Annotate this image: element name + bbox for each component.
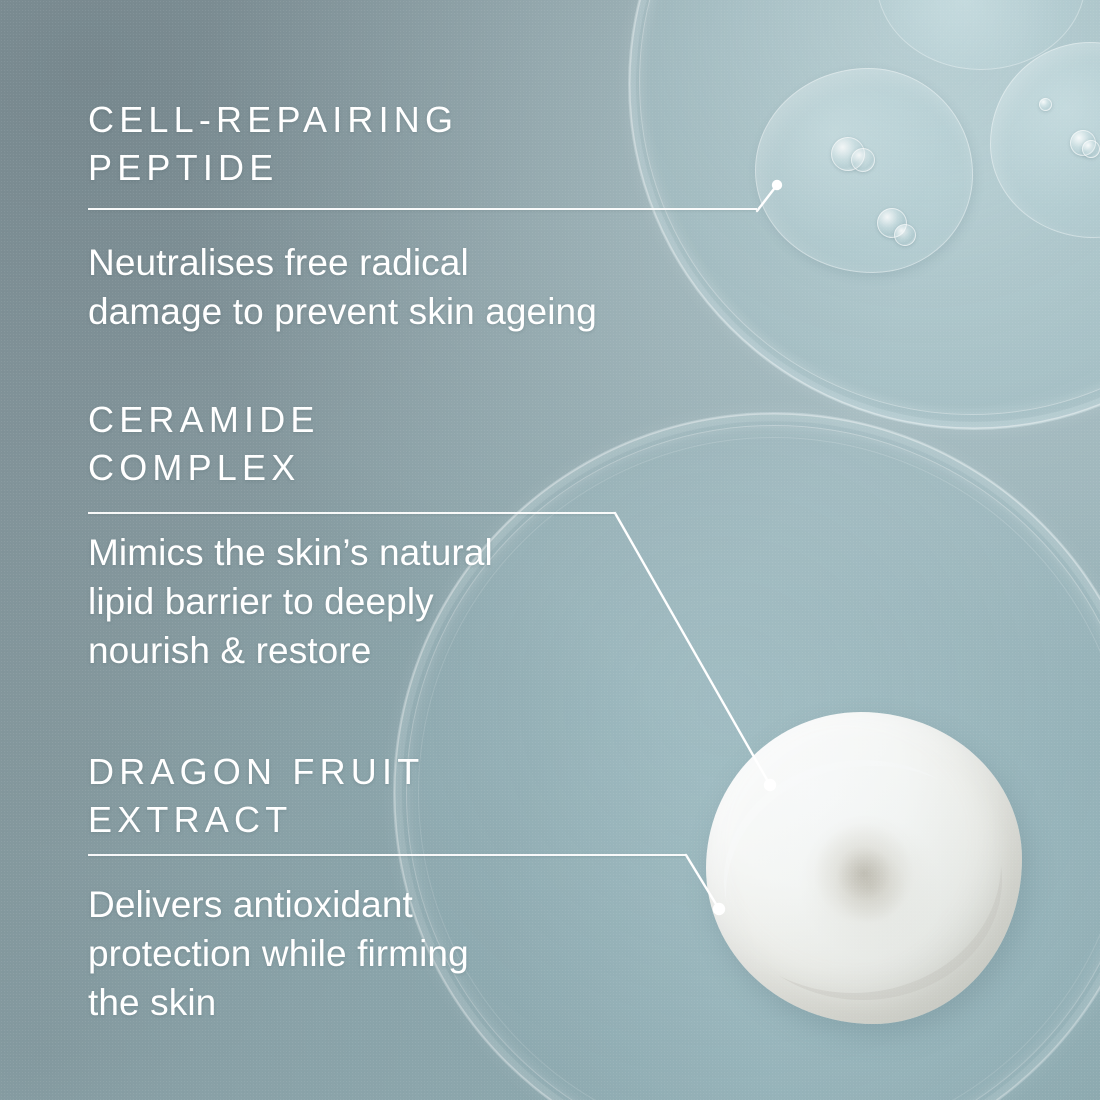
body-text-peptide: Neutralises free radical damage to preve… <box>88 238 597 336</box>
petri-dish-bottom-inner-rim-2 <box>418 437 1100 1100</box>
leader-dot-peptide <box>772 180 782 190</box>
leader-line-peptide-diagonal <box>757 185 777 211</box>
infographic-canvas: CELL-REPAIRING PEPTIDE Neutralises free … <box>0 0 1100 1100</box>
air-bubble-icon <box>1039 98 1052 111</box>
air-bubble-icon <box>877 208 907 238</box>
gel-droplet-upper <box>876 0 1086 70</box>
leader-dot-dragonfruit <box>713 903 725 915</box>
divider-rule-ceramide <box>88 512 615 514</box>
divider-rule-peptide <box>88 208 757 210</box>
leader-dot-ceramide <box>764 779 776 791</box>
gel-droplet-center <box>755 68 973 273</box>
air-bubble-icon <box>831 137 865 171</box>
air-bubble-icon <box>894 224 916 246</box>
ingredient-block-ceramide: CERAMIDE COMPLEX <box>88 396 320 492</box>
ingredient-block-peptide: CELL-REPAIRING PEPTIDE <box>88 96 458 192</box>
heading-dragon-fruit-extract: DRAGON FRUIT EXTRACT <box>88 748 424 844</box>
heading-cell-repairing-peptide: CELL-REPAIRING PEPTIDE <box>88 96 458 192</box>
leader-line-ceramide-diagonal <box>615 513 770 785</box>
petri-dish-top <box>628 0 1100 430</box>
air-bubble-icon <box>1070 130 1096 156</box>
petri-dish-bottom-inner-rim <box>406 425 1100 1100</box>
leader-line-dragonfruit-diagonal <box>686 855 719 909</box>
cream-dollop <box>706 712 1022 1024</box>
petri-dish-bottom <box>393 412 1100 1100</box>
heading-ceramide-complex: CERAMIDE COMPLEX <box>88 396 320 492</box>
cream-dollop-ridge <box>724 760 1002 1000</box>
cream-dollop-swirl-center <box>806 816 922 926</box>
body-text-ceramide: Mimics the skin’s natural lipid barrier … <box>88 528 493 675</box>
gel-droplet-right <box>990 42 1100 238</box>
air-bubble-icon <box>851 148 875 172</box>
ingredient-block-dragon-fruit: DRAGON FRUIT EXTRACT <box>88 748 424 844</box>
divider-rule-dragon-fruit <box>88 854 686 856</box>
air-bubble-icon <box>1082 140 1100 158</box>
body-text-dragon-fruit: Delivers antioxidant protection while fi… <box>88 880 469 1027</box>
